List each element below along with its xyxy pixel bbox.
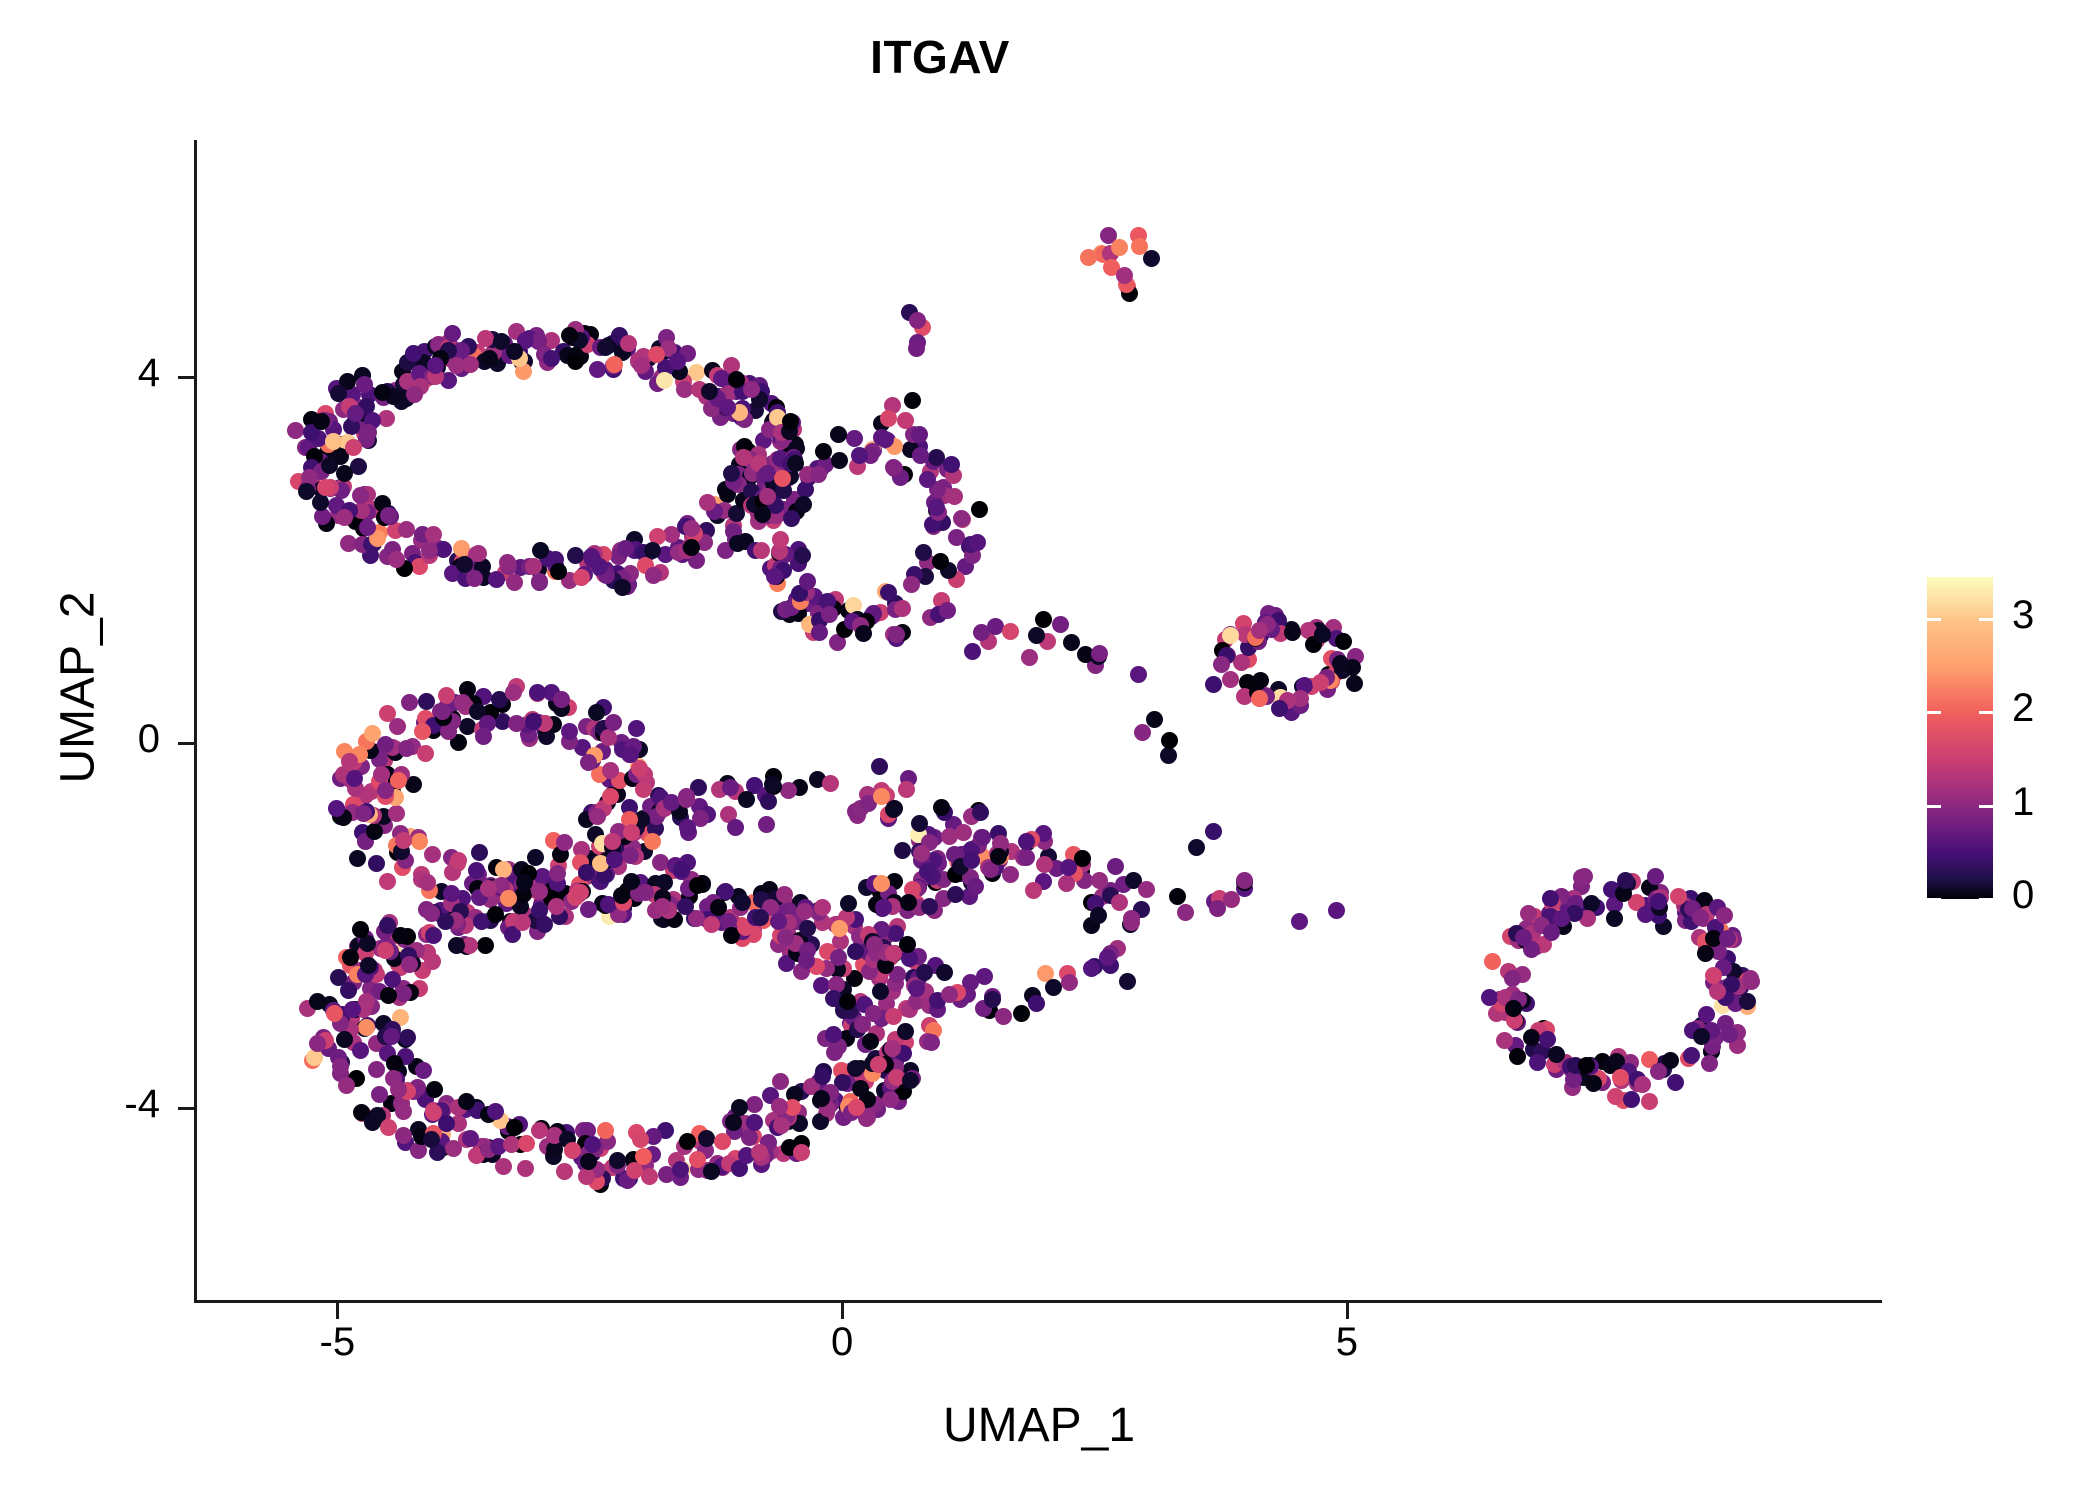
scatter-point <box>735 449 752 466</box>
scatter-point <box>1028 995 1045 1012</box>
scatter-point <box>902 1072 919 1089</box>
scatter-point <box>380 507 397 524</box>
scatter-point <box>423 1131 440 1148</box>
scatter-point <box>606 356 623 373</box>
scatter-point <box>1697 945 1714 962</box>
scatter-point <box>678 788 695 805</box>
scatter-point <box>683 539 700 556</box>
scatter-point <box>635 781 652 798</box>
scatter-point <box>888 626 905 643</box>
scatter-point <box>919 471 936 488</box>
scatter-point <box>1650 1063 1667 1080</box>
scatter-point <box>939 602 956 619</box>
scatter-point <box>336 465 353 482</box>
scatter-point <box>312 494 329 511</box>
scatter-point <box>796 903 813 920</box>
colorbar-tick-label: 2 <box>2012 686 2034 731</box>
scatter-point <box>689 877 706 894</box>
scatter-point <box>1223 891 1240 908</box>
scatter-point <box>622 847 639 864</box>
scatter-point <box>799 920 816 937</box>
scatter-point <box>846 430 863 447</box>
scatter-point <box>567 353 584 370</box>
colorbar-gradient <box>1927 577 1993 899</box>
scatter-point <box>871 758 888 775</box>
scatter-point <box>389 718 406 735</box>
scatter-point <box>1213 656 1230 673</box>
scatter-point <box>443 885 460 902</box>
scatter-point <box>1328 902 1345 919</box>
scatter-point <box>771 1098 788 1115</box>
scatter-point <box>1481 989 1498 1006</box>
scatter-point <box>953 510 970 527</box>
scatter-point <box>1683 1047 1700 1064</box>
scatter-point <box>774 470 791 487</box>
scatter-point <box>347 405 364 422</box>
scatter-point <box>458 1093 475 1110</box>
scatter-point <box>426 1081 443 1098</box>
scatter-point <box>421 542 438 559</box>
scatter-point <box>1583 895 1600 912</box>
x-tick-label: 5 <box>1267 1320 1427 1365</box>
scatter-point <box>641 1168 658 1185</box>
scatter-point <box>518 1135 535 1152</box>
scatter-point <box>573 569 590 586</box>
scatter-point <box>793 1144 810 1161</box>
y-axis-title: UMAP_2 <box>51 318 106 1058</box>
scatter-point <box>880 584 897 601</box>
scatter-point <box>897 412 914 429</box>
scatter-point <box>919 863 936 880</box>
scatter-point <box>1721 1026 1738 1043</box>
scatter-point <box>425 526 442 543</box>
scatter-point <box>614 579 631 596</box>
scatter-point <box>499 554 516 571</box>
scatter-point <box>974 829 991 846</box>
scatter-point <box>488 571 505 588</box>
scatter-point <box>309 993 326 1010</box>
scatter-point <box>885 801 902 818</box>
scatter-point <box>340 982 357 999</box>
scatter-point <box>1576 868 1593 885</box>
scatter-point <box>798 952 815 969</box>
scatter-point <box>556 1163 573 1180</box>
scatter-point <box>773 1117 790 1134</box>
colorbar-tick-mark <box>1927 711 1941 714</box>
scatter-point <box>493 333 510 350</box>
scatter-point <box>772 531 789 548</box>
scatter-point <box>549 865 566 882</box>
scatter-point <box>390 772 407 789</box>
scatter-point <box>374 384 391 401</box>
scatter-point <box>1709 983 1726 1000</box>
scatter-point <box>1670 888 1687 905</box>
scatter-point <box>752 909 769 926</box>
scatter-point <box>714 1133 731 1150</box>
scatter-point <box>313 413 330 430</box>
scatter-point <box>1701 1055 1718 1072</box>
scatter-point <box>401 956 418 973</box>
scatter-point <box>626 1162 643 1179</box>
scatter-point <box>1505 1000 1522 1017</box>
scatter-point <box>760 793 777 810</box>
scatter-point <box>1146 711 1163 728</box>
scatter-point <box>471 844 488 861</box>
scatter-point <box>764 776 781 793</box>
scatter-point <box>1484 953 1501 970</box>
scatter-point <box>398 740 415 757</box>
scatter-point <box>633 357 650 374</box>
x-tick-label: 0 <box>762 1320 922 1365</box>
scatter-point <box>652 854 669 871</box>
scatter-point <box>1143 250 1160 267</box>
scatter-point <box>811 624 828 641</box>
scatter-point <box>561 723 578 740</box>
scatter-point <box>1314 626 1331 643</box>
scatter-point <box>1312 674 1329 691</box>
scatter-point <box>904 392 921 409</box>
scatter-point <box>923 1034 940 1051</box>
scatter-point <box>384 971 401 988</box>
scatter-point <box>1138 881 1155 898</box>
scatter-point <box>964 643 981 660</box>
scatter-point <box>395 1127 412 1144</box>
scatter-point <box>723 465 740 482</box>
scatter-point <box>1623 1091 1640 1108</box>
scatter-point <box>813 1090 830 1107</box>
scatter-point <box>583 548 600 565</box>
scatter-point <box>567 547 584 564</box>
scatter-point <box>309 1035 326 1052</box>
scatter-point <box>419 874 436 891</box>
scatter-point <box>602 762 619 779</box>
scatter-point <box>371 1086 388 1103</box>
scatter-point <box>1705 967 1722 984</box>
scatter-point <box>1291 913 1308 930</box>
scatter-point <box>401 694 418 711</box>
scatter-point <box>884 1040 901 1057</box>
scatter-point <box>1025 882 1042 899</box>
scatter-point <box>738 791 755 808</box>
scatter-point <box>1284 624 1301 641</box>
scatter-point <box>1641 1093 1658 1110</box>
colorbar-tick-label: 0 <box>2012 873 2034 918</box>
scatter-point <box>772 1073 789 1090</box>
x-tick-label: -5 <box>257 1320 417 1365</box>
scatter-point <box>1013 1005 1030 1022</box>
scatter-point <box>456 556 473 573</box>
scatter-point <box>728 371 745 388</box>
scatter-point <box>517 1160 534 1177</box>
scatter-point <box>438 687 455 704</box>
scatter-point <box>506 574 523 591</box>
scatter-point <box>500 890 517 907</box>
scatter-point <box>831 452 848 469</box>
scatter-point <box>352 1042 369 1059</box>
scatter-point <box>373 766 390 783</box>
scatter-point <box>355 805 372 822</box>
scatter-point <box>822 775 839 792</box>
scatter-point <box>1271 700 1288 717</box>
scatter-point <box>1222 671 1239 688</box>
scatter-point <box>417 745 434 762</box>
scatter-point <box>1335 633 1352 650</box>
scatter-point <box>341 753 358 770</box>
scatter-point <box>444 325 461 342</box>
scatter-point <box>699 494 716 511</box>
scatter-point <box>753 542 770 559</box>
scatter-point <box>1743 973 1760 990</box>
scatter-point <box>1496 1032 1513 1049</box>
scatter-point <box>814 899 831 916</box>
scatter-point <box>766 568 783 585</box>
scatter-point <box>548 898 565 915</box>
scatter-point <box>698 1130 715 1147</box>
scatter-point <box>799 573 816 590</box>
scatter-point <box>383 1028 400 1045</box>
scatter-point <box>1543 924 1560 941</box>
scatter-point <box>1018 849 1035 866</box>
scatter-point <box>990 848 1007 865</box>
x-tick-mark <box>336 1303 339 1319</box>
scatter-point <box>654 898 671 915</box>
scatter-point <box>644 833 661 850</box>
scatter-point <box>405 345 422 362</box>
colorbar-tick-mark <box>1979 711 1993 714</box>
scatter-point <box>870 1056 887 1073</box>
scatter-point <box>710 899 727 916</box>
scatter-point <box>525 558 542 575</box>
colorbar-tick-mark <box>1927 618 1941 621</box>
scatter-point <box>645 567 662 584</box>
scatter-point <box>342 949 359 966</box>
scatter-point <box>936 964 953 981</box>
scatter-point <box>495 1158 512 1175</box>
scatter-point <box>1080 249 1097 266</box>
scatter-point <box>885 459 902 476</box>
scatter-point <box>364 1114 381 1131</box>
scatter-point <box>360 424 377 441</box>
scatter-point <box>1739 993 1756 1010</box>
scatter-point <box>1667 1074 1684 1091</box>
scatter-point <box>672 1161 689 1178</box>
y-tick-mark <box>178 376 194 379</box>
scatter-point <box>298 483 315 500</box>
scatter-point <box>423 905 440 922</box>
scatter-point <box>360 957 377 974</box>
scatter-point <box>424 953 441 970</box>
scatter-point <box>866 936 883 953</box>
scatter-point <box>1205 676 1222 693</box>
scatter-point <box>345 439 362 456</box>
umap-feature-plot: ITGAV -404 -505 UMAP_1 UMAP_2 0123 <box>0 0 2100 1500</box>
colorbar-tick-label: 3 <box>2012 593 2034 638</box>
scatter-point <box>847 1060 864 1077</box>
scatter-point <box>516 874 533 891</box>
scatter-point <box>1099 949 1116 966</box>
scatter-point <box>556 834 573 851</box>
y-axis-line <box>194 140 197 1303</box>
scatter-point <box>669 353 686 370</box>
scatter-point <box>336 509 353 526</box>
scatter-point <box>597 1122 614 1139</box>
scatter-point <box>776 886 793 903</box>
scatter-point <box>955 824 972 841</box>
scatter-point <box>325 433 342 450</box>
x-axis-line <box>194 1300 1882 1303</box>
scatter-point <box>947 886 964 903</box>
scatter-point <box>1251 690 1268 707</box>
scatter-point <box>921 898 938 915</box>
scatter-point <box>1346 675 1363 692</box>
scatter-point <box>780 782 797 799</box>
scatter-point <box>963 852 980 869</box>
colorbar-tick-mark <box>1927 805 1941 808</box>
scatter-point <box>1205 823 1222 840</box>
scatter-point <box>909 312 926 329</box>
scatter-point <box>605 714 622 731</box>
scatter-point <box>683 520 700 537</box>
scatter-point <box>847 943 864 960</box>
scatter-point <box>1116 267 1133 284</box>
scatter-point <box>399 1029 416 1046</box>
colorbar-tick-mark <box>1927 898 1941 901</box>
scatter-point <box>1251 622 1268 639</box>
scatter-point <box>875 899 892 916</box>
scatter-point <box>689 1151 706 1168</box>
page-title: ITGAV <box>0 30 1880 84</box>
scatter-point <box>531 883 548 900</box>
scatter-point <box>1045 979 1062 996</box>
scatter-point <box>584 1136 601 1153</box>
scatter-point <box>508 715 525 732</box>
x-axis-title: UMAP_1 <box>196 1398 1882 1453</box>
scatter-point <box>1123 910 1140 927</box>
y-tick-label: -4 <box>0 1082 160 1127</box>
scatter-point <box>1091 872 1108 889</box>
scatter-point <box>1060 859 1077 876</box>
scatter-point <box>1529 1054 1546 1071</box>
x-tick-mark <box>1346 1303 1349 1319</box>
scatter-point <box>794 547 811 564</box>
scatter-point <box>677 898 694 915</box>
scatter-point <box>1504 970 1521 987</box>
scatter-point <box>580 1153 597 1170</box>
scatter-point <box>1578 1057 1595 1074</box>
scatter-point <box>1509 1048 1526 1065</box>
scatter-point <box>487 906 504 923</box>
scatter-point <box>427 357 444 374</box>
scatter-point <box>873 788 890 805</box>
scatter-point <box>1698 1006 1715 1023</box>
scatter-point <box>648 346 665 363</box>
scatter-point <box>1061 974 1078 991</box>
scatter-point <box>894 600 911 617</box>
scatter-point <box>644 542 661 559</box>
y-tick-mark <box>178 742 194 745</box>
scatter-point <box>531 1122 548 1139</box>
scatter-point <box>635 1148 652 1165</box>
scatter-point <box>913 845 930 862</box>
scatter-point <box>898 781 915 798</box>
scatter-point <box>336 1031 353 1048</box>
scatter-point <box>1028 627 1045 644</box>
colorbar-tick-mark <box>1979 898 1993 901</box>
scatter-point <box>352 921 369 938</box>
y-tick-mark <box>178 1107 194 1110</box>
scatter-point <box>536 916 553 933</box>
scatter-point <box>941 986 958 1003</box>
scatter-point <box>1607 1088 1624 1105</box>
scatter-point <box>830 949 847 966</box>
scatter-point <box>1612 1069 1629 1086</box>
scatter-point <box>821 606 838 623</box>
scatter-point <box>364 725 381 742</box>
scatter-point <box>908 340 925 357</box>
scatter-point <box>527 849 544 866</box>
scatter-point <box>1650 893 1667 910</box>
scatter-point <box>514 914 531 931</box>
scatter-point <box>632 1131 649 1148</box>
scatter-point <box>462 1130 479 1147</box>
colorbar-tick-mark <box>1979 805 1993 808</box>
scatter-point <box>872 983 889 1000</box>
scatter-point <box>561 327 578 344</box>
scatter-point <box>1647 868 1664 885</box>
scatter-point <box>438 1115 455 1132</box>
scatter-point <box>777 929 794 946</box>
scatter-point <box>758 816 775 833</box>
scatter-point <box>865 1005 882 1022</box>
colorbar-tick-label: 1 <box>2012 780 2034 825</box>
scatter-point <box>411 833 428 850</box>
scatter-point <box>604 833 621 850</box>
scatter-point <box>564 1142 581 1159</box>
scatter-point <box>505 684 522 701</box>
scatter-point <box>328 800 345 817</box>
scatter-point <box>395 1103 412 1120</box>
x-tick-mark <box>841 1303 844 1319</box>
scatter-point <box>406 386 423 403</box>
scatter-point <box>366 823 383 840</box>
scatter-point <box>1091 645 1108 662</box>
scatter-point <box>326 1005 343 1022</box>
scatter-point <box>377 736 394 753</box>
scatter-point <box>1236 872 1253 889</box>
scatter-point <box>912 447 929 464</box>
scatter-point <box>1107 858 1124 875</box>
scatter-point <box>972 804 989 821</box>
scatter-point <box>602 788 619 805</box>
scatter-point <box>1002 623 1019 640</box>
scatter-point <box>969 534 986 551</box>
scatter-point <box>580 901 597 918</box>
scatter-point <box>553 691 570 708</box>
scatter-point <box>839 993 856 1010</box>
scatter-point <box>673 861 690 878</box>
scatter-point <box>1523 1029 1540 1046</box>
scatter-point <box>1606 910 1623 927</box>
colorbar-tick-mark <box>1979 618 1993 621</box>
scatter-point <box>589 808 606 825</box>
scatter-point <box>1035 611 1052 628</box>
scatter-point <box>915 544 932 561</box>
scatter-point <box>628 720 645 737</box>
